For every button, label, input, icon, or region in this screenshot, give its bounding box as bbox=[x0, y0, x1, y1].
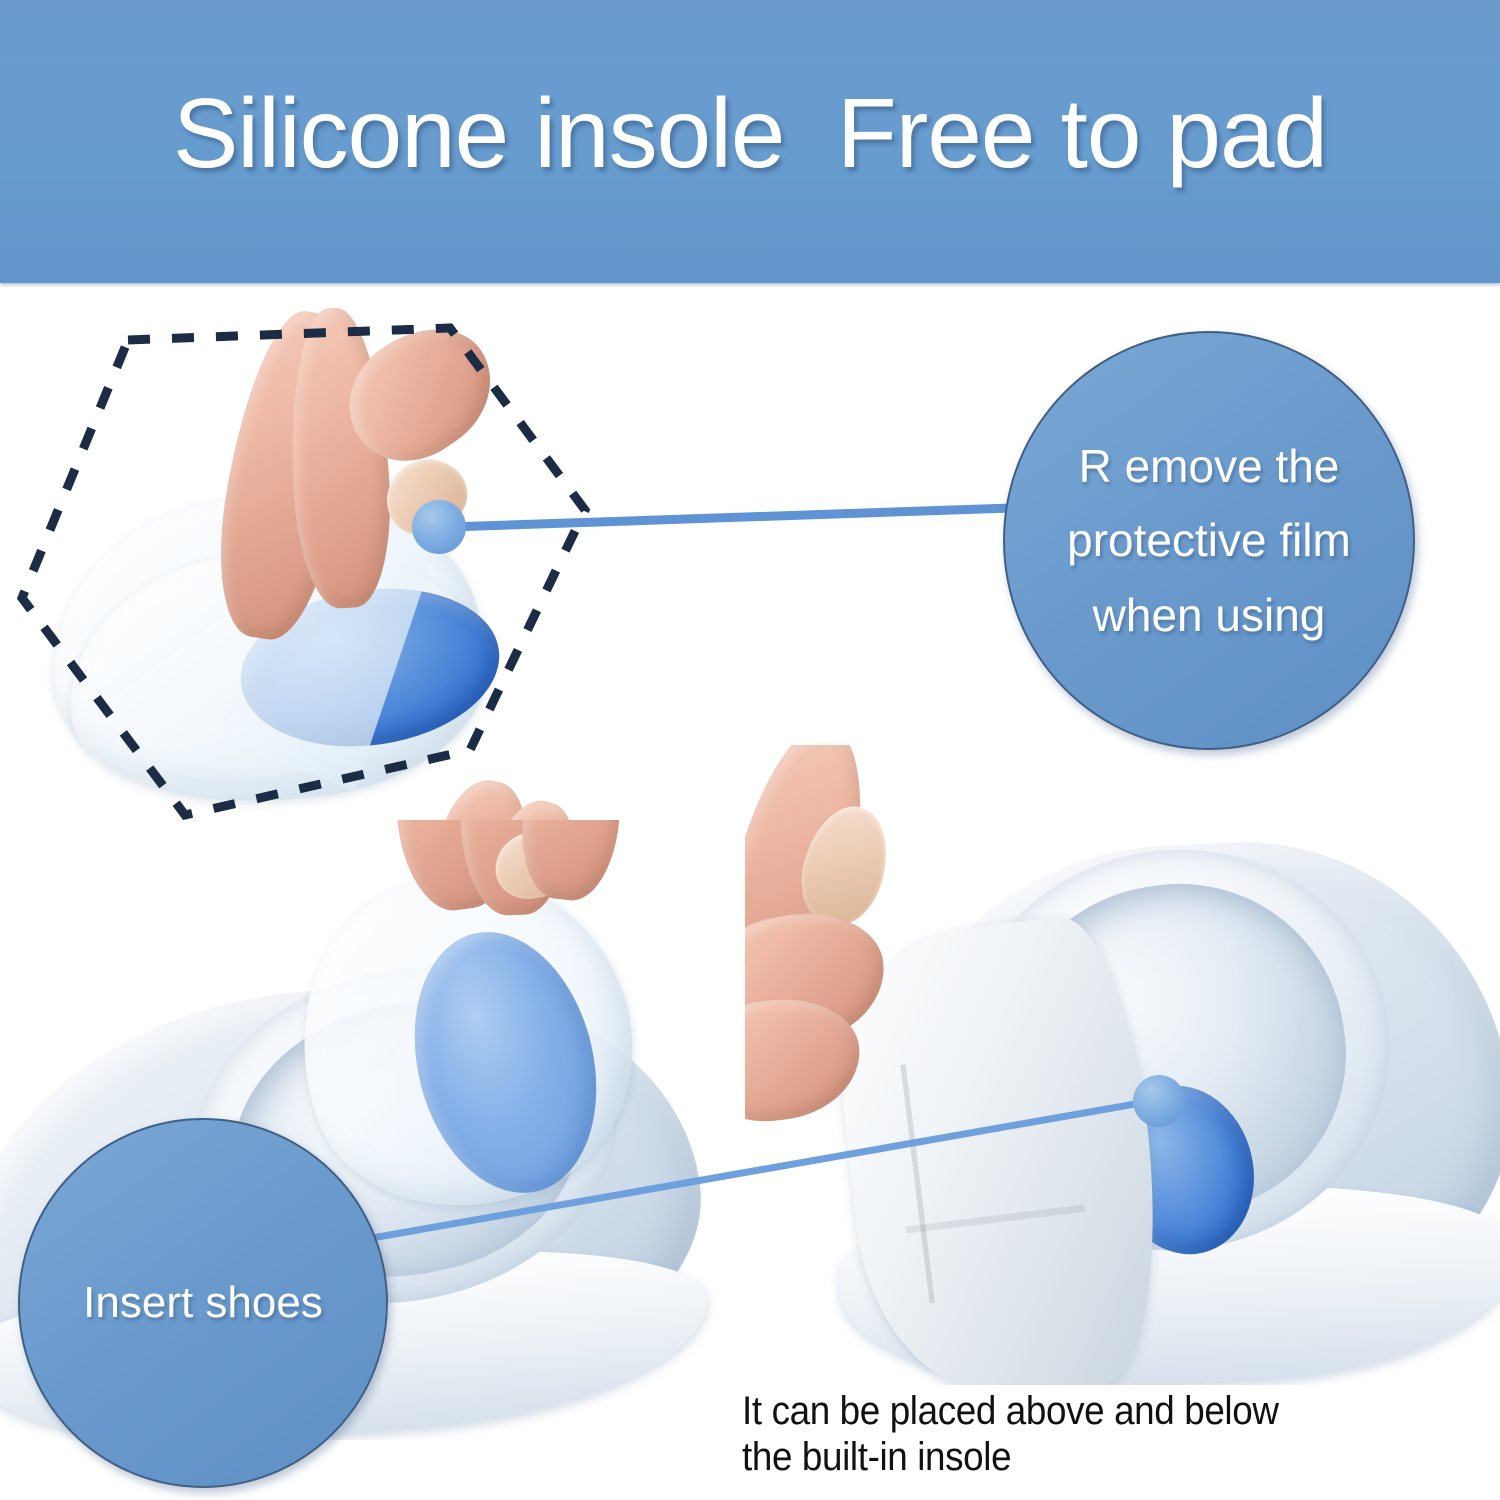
bottom-caption: It can be placed above and below the bui… bbox=[742, 1388, 1404, 1481]
peel-protective-film-photo bbox=[40, 300, 620, 860]
callout-insert-shoes[interactable]: Insert shoes bbox=[18, 1118, 388, 1488]
callout-insert-shoes-label: Insert shoes bbox=[65, 1274, 341, 1331]
under-insole-photo bbox=[745, 745, 1500, 1385]
leader-dot-under-insole bbox=[1133, 1075, 1185, 1127]
infographic-page: Silicone insole Free to pad bbox=[0, 0, 1500, 1500]
callout-remove-film-label: R emove the protective film when using bbox=[1041, 429, 1377, 653]
callout-remove-film[interactable]: R emove the protective film when using bbox=[1003, 331, 1415, 750]
page-title: Silicone insole Free to pad bbox=[0, 0, 1500, 283]
leader-dot-film bbox=[412, 500, 466, 554]
insole-printed-marks bbox=[886, 1045, 1094, 1305]
header-banner: Silicone insole Free to pad bbox=[0, 0, 1500, 283]
